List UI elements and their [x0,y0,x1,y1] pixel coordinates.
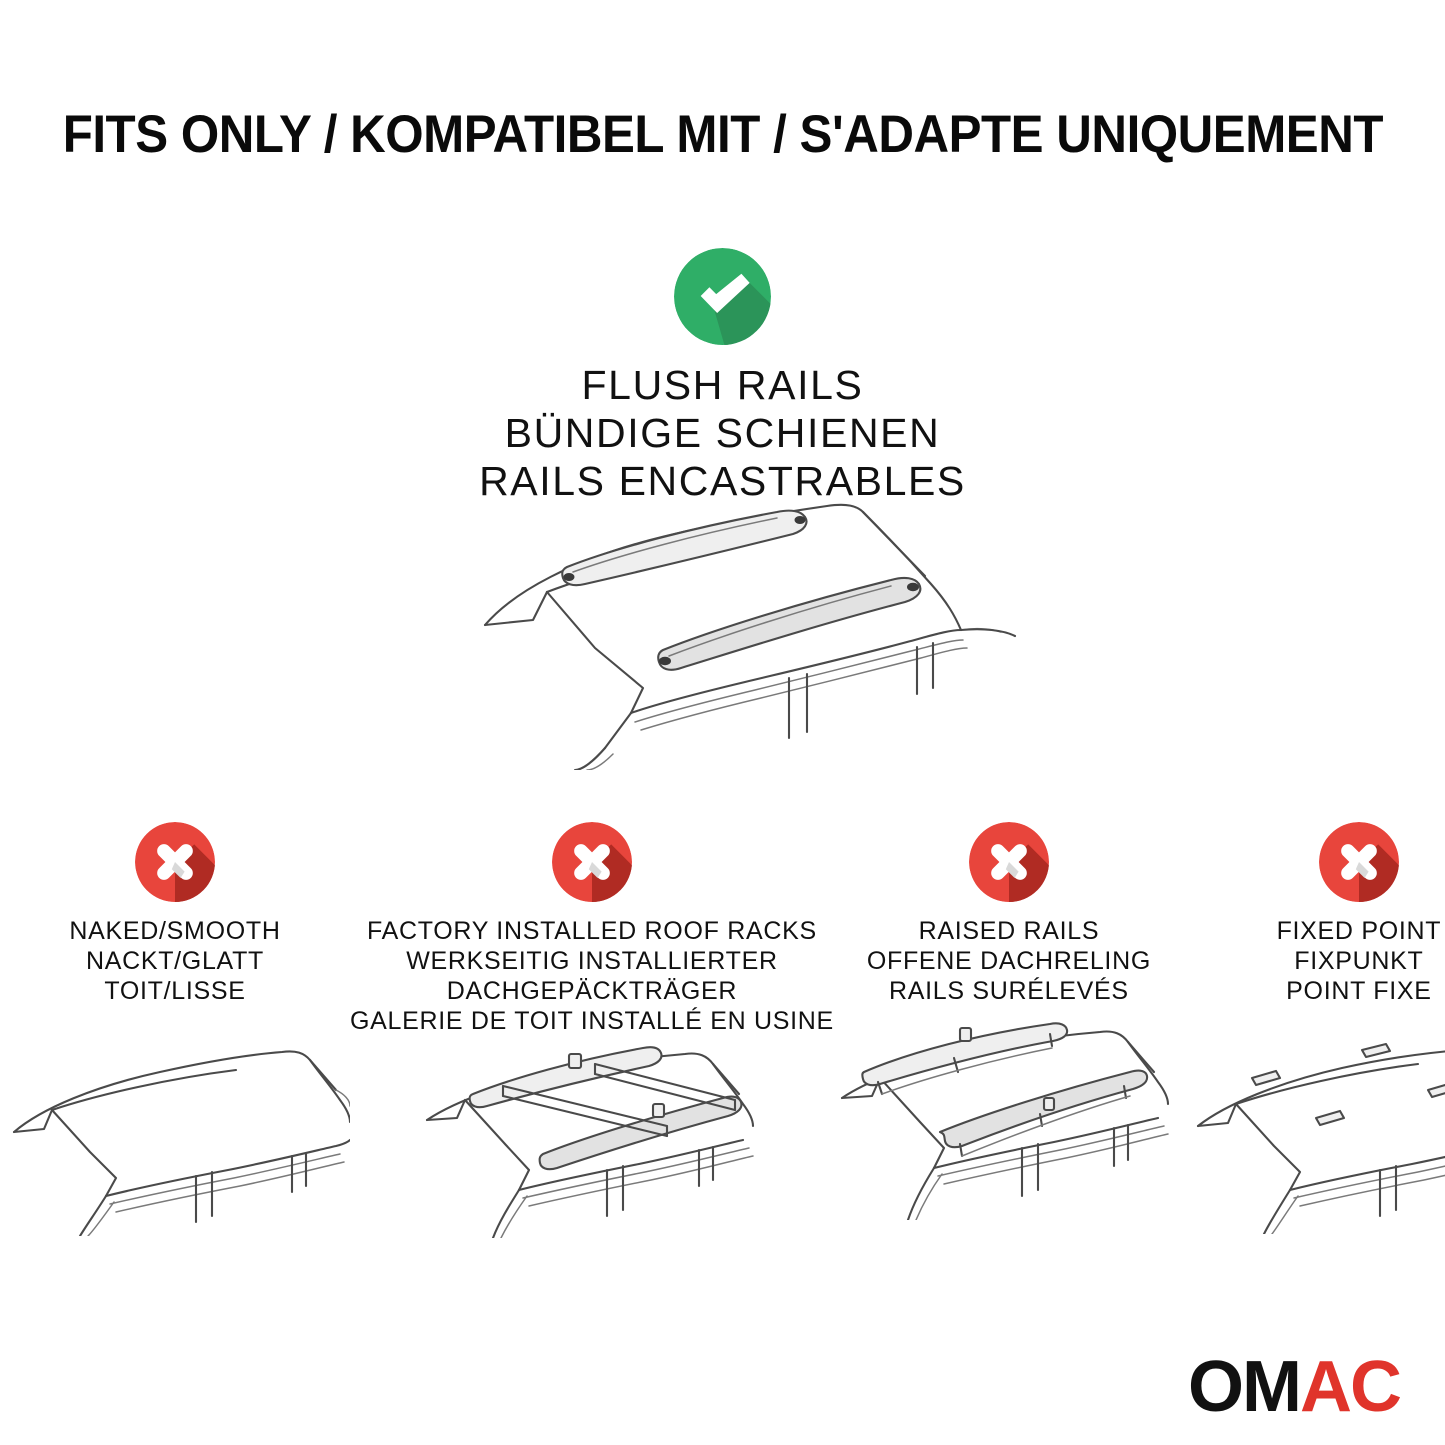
page-title-text: FITS ONLY / KOMPATIBEL MIT / S'ADAPTE UN… [62,104,1382,165]
incompatible-label-fr: POINT FIXE [1277,976,1442,1006]
incompatible-item-factory-installed-roof-racks: FACTORY INSTALLED ROOF RACKS WERKSEITIG … [350,822,834,1238]
incompatible-labels: NAKED/SMOOTH NACKT/GLATT TOIT/LISSE [69,916,280,1006]
incompatible-section: NAKED/SMOOTH NACKT/GLATT TOIT/LISSE [0,822,1445,1238]
cross-circle-icon [969,822,1049,902]
car-roof-raised-rails-illustration [834,1020,1184,1220]
cross-circle-icon [1319,822,1399,902]
compatible-section: FLUSH RAILS BÜNDIGE SCHIENEN RAILS ENCAS… [0,248,1445,505]
check-circle-icon [674,248,771,345]
car-roof-fixed-point-illustration [1184,1034,1445,1234]
incompatible-label-de: OFFENE DACHRELING [867,946,1151,976]
incompatible-item-fixed-point: FIXED POINT FIXPUNKT POINT FIXE [1184,822,1445,1234]
compatible-label-de: BÜNDIGE SCHIENEN [479,409,966,457]
logo-text-dark: OM [1188,1351,1300,1423]
logo-text-red: AC [1300,1351,1400,1423]
car-roof-factory-racks-illustration [417,1038,767,1238]
page-title: FITS ONLY / KOMPATIBEL MIT / S'ADAPTE UN… [0,104,1445,165]
incompatible-labels: RAISED RAILS OFFENE DACHRELING RAILS SUR… [867,916,1151,1006]
incompatible-item-naked-smooth: NAKED/SMOOTH NACKT/GLATT TOIT/LISSE [0,822,350,1236]
incompatible-labels: FIXED POINT FIXPUNKT POINT FIXE [1277,916,1442,1006]
incompatible-label-de-2: DACHGEPÄCKTRÄGER [350,976,834,1006]
cross-circle-icon [552,822,632,902]
incompatible-label-en: RAISED RAILS [867,916,1151,946]
incompatible-label-de: FIXPUNKT [1277,946,1442,976]
incompatible-label-fr: GALERIE DE TOIT INSTALLÉ EN USINE [350,1006,834,1036]
incompatible-labels: FACTORY INSTALLED ROOF RACKS WERKSEITIG … [350,916,834,1036]
car-roof-flush-rails-illustration [455,470,1045,770]
omac-logo: OM AC [1188,1351,1400,1423]
incompatible-label-fr: TOIT/LISSE [69,976,280,1006]
incompatible-label-fr: RAILS SURÉLEVÉS [867,976,1151,1006]
compatible-label-en: FLUSH RAILS [479,361,966,409]
incompatible-label-en: NAKED/SMOOTH [69,916,280,946]
incompatible-label-de-1: WERKSEITIG INSTALLIERTER [350,946,834,976]
car-roof-naked-illustration [0,1036,350,1236]
incompatible-label-en: FIXED POINT [1277,916,1442,946]
cross-circle-icon [135,822,215,902]
incompatible-label-en: FACTORY INSTALLED ROOF RACKS [350,916,834,946]
incompatible-item-raised-rails: RAISED RAILS OFFENE DACHRELING RAILS SUR… [834,822,1184,1220]
incompatible-label-de: NACKT/GLATT [69,946,280,976]
